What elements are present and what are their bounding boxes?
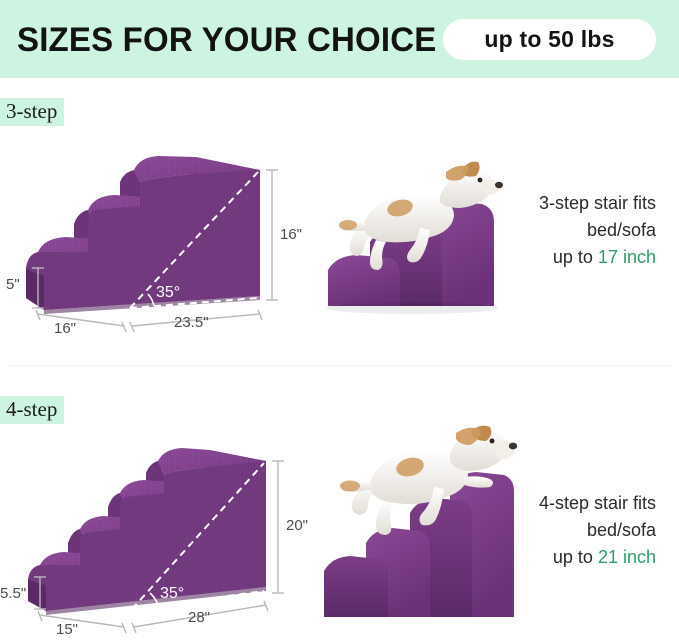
diagram-4step: 5.5" 15" 20" 28" 35° xyxy=(8,445,308,635)
fit-4step-line3: up to 21 inch xyxy=(539,544,656,571)
dim-4step-total-height: 20" xyxy=(286,517,308,534)
fit-4step-prefix: up to xyxy=(553,547,598,567)
dim-4step-depth: 15" xyxy=(56,621,78,638)
fit-3step-line2: bed/sofa xyxy=(539,217,656,244)
header-banner: SIZES FOR YOUR CHOICE up to 50 lbs xyxy=(0,0,679,78)
fit-4step-line2: bed/sofa xyxy=(539,517,656,544)
section-divider xyxy=(8,365,671,367)
dim-3step-total-height: 16" xyxy=(280,226,302,243)
page-title: SIZES FOR YOUR CHOICE xyxy=(17,20,436,60)
stairs-3step-illustration xyxy=(8,148,308,338)
fit-text-4step: 4-step stair fits bed/sofa up to 21 inch xyxy=(539,490,656,571)
fit-3step-prefix: up to xyxy=(553,247,598,267)
fit-3step-line1: 3-step stair fits xyxy=(539,190,656,217)
section-label-4step: 4-step xyxy=(0,396,64,424)
section-label-3step: 3-step xyxy=(0,98,64,126)
fit-text-3step: 3-step stair fits bed/sofa up to 17 inch xyxy=(539,190,656,271)
weight-capacity-badge: up to 50 lbs xyxy=(443,19,656,60)
photo-dog-on-3step-stairs xyxy=(322,150,512,325)
dog-climbing-3step-image xyxy=(322,150,512,325)
dim-3step-angle: 35° xyxy=(156,284,180,302)
dog-climbing-4step-image xyxy=(322,425,522,625)
photo-dog-on-4step-stairs xyxy=(322,425,522,625)
diagram-3step: 5" 16" 16" 23.5" 35° xyxy=(8,148,308,338)
dim-3step-step-height: 5" xyxy=(6,276,20,293)
dim-3step-length: 23.5" xyxy=(174,314,209,331)
fit-4step-line1: 4-step stair fits xyxy=(539,490,656,517)
dim-4step-angle: 35° xyxy=(160,585,184,603)
fit-3step-line3: up to 17 inch xyxy=(539,244,656,271)
fit-3step-highlight: 17 inch xyxy=(598,247,656,267)
dim-3step-depth: 16" xyxy=(54,320,76,337)
dim-4step-length: 28" xyxy=(188,609,210,626)
fit-4step-highlight: 21 inch xyxy=(598,547,656,567)
dim-4step-step-height: 5.5" xyxy=(0,585,26,602)
stairs-4step-illustration xyxy=(8,445,308,635)
weight-capacity-label: up to 50 lbs xyxy=(484,26,614,53)
